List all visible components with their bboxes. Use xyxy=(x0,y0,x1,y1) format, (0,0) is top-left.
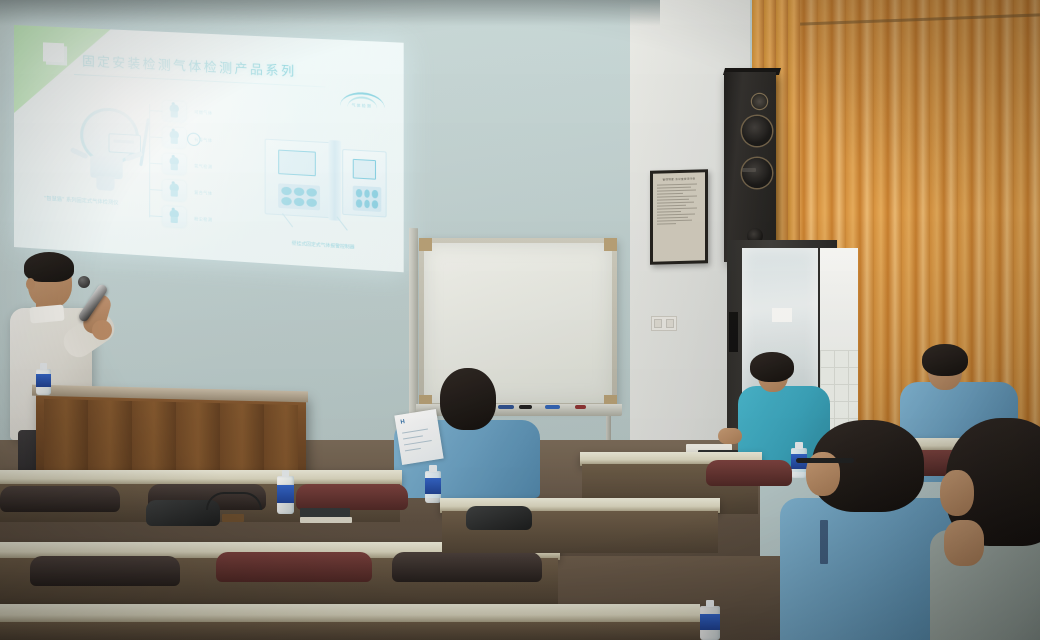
attendee-by-door-head xyxy=(750,352,794,382)
water-bottle-desk[interactable] xyxy=(277,470,294,514)
bag-strap xyxy=(206,492,262,510)
product-label-3: 复合气体 xyxy=(194,190,212,197)
notebook-dark xyxy=(300,508,350,517)
marker-red[interactable] xyxy=(575,405,586,409)
product-icon-2 xyxy=(162,153,186,175)
attendee-foreground-right-hand xyxy=(944,520,984,566)
whiteboard-side-panel xyxy=(409,228,418,424)
handout-logo: H xyxy=(400,419,405,426)
lanyard xyxy=(820,520,828,564)
light-switch[interactable] xyxy=(651,316,677,331)
marker-blue[interactable] xyxy=(498,405,514,409)
product-icon-3 xyxy=(162,180,186,202)
attendee-foreground-right-ear xyxy=(940,470,974,516)
water-bottle-foreground[interactable] xyxy=(700,600,720,640)
water-bottle-podium[interactable] xyxy=(36,363,51,395)
desk-item-wood xyxy=(222,514,244,522)
framed-notice: 管理制度·会议室使用守则 xyxy=(650,169,708,265)
chair-right-rear xyxy=(706,460,792,486)
product-label-1: 有毒气体 xyxy=(194,137,212,144)
product-icon-0 xyxy=(162,101,186,123)
desk-row-0 xyxy=(0,604,700,624)
product-icon-tree: 可燃气体 有毒气体 氧气检测 复合气体 粉尘检测 xyxy=(149,98,256,232)
eyeglasses-arm xyxy=(796,458,854,463)
product-label-2: 氧气检测 xyxy=(194,163,212,170)
marker-black[interactable] xyxy=(519,405,532,409)
gas-detector-illustration xyxy=(66,100,153,198)
attendee-right-rear-head xyxy=(922,344,968,376)
notice-heading: 管理制度·会议室使用守则 xyxy=(657,176,701,181)
handout-paper[interactable]: H xyxy=(394,409,443,465)
microphone-head xyxy=(78,276,90,288)
product-icon-1 xyxy=(162,127,186,149)
attendee-by-door-hand xyxy=(718,428,742,444)
projection-screen: 固定安装检测气体检测产品系列 气体检测 "智慧猫" 系列固定式气体检测仪 xyxy=(14,25,404,272)
control-panel-illustration xyxy=(263,130,389,248)
chair-r1-b xyxy=(216,552,372,582)
chair-r2-c xyxy=(296,484,408,510)
attendee-front-center-head xyxy=(440,368,496,430)
slide-logo-text: 气体检测 xyxy=(352,103,372,109)
shoulder-bag-2[interactable] xyxy=(466,506,532,530)
notebook-light xyxy=(300,517,352,523)
detector-caption: "智慧猫" 系列固定式气体检测仪 xyxy=(44,195,118,207)
ceiling-shadow xyxy=(0,0,660,26)
slide-logo: 气体检测 xyxy=(340,89,387,110)
product-label-4: 粉尘检测 xyxy=(194,216,212,223)
marker-blue-2[interactable] xyxy=(545,405,560,409)
chair-r1-c xyxy=(392,552,542,582)
conference-room-photo: 固定安装检测气体检测产品系列 气体检测 "智慧猫" 系列固定式气体检测仪 xyxy=(0,0,1040,640)
loudspeaker xyxy=(724,72,776,262)
chair-r2-a xyxy=(0,486,120,512)
presenter-hand xyxy=(92,320,112,340)
product-label-0: 可燃气体 xyxy=(194,109,212,116)
chair-r1-a xyxy=(30,556,180,586)
slide-corner-badge xyxy=(43,42,64,62)
water-bottle-center[interactable] xyxy=(425,465,441,503)
product-icon-4 xyxy=(162,206,186,228)
